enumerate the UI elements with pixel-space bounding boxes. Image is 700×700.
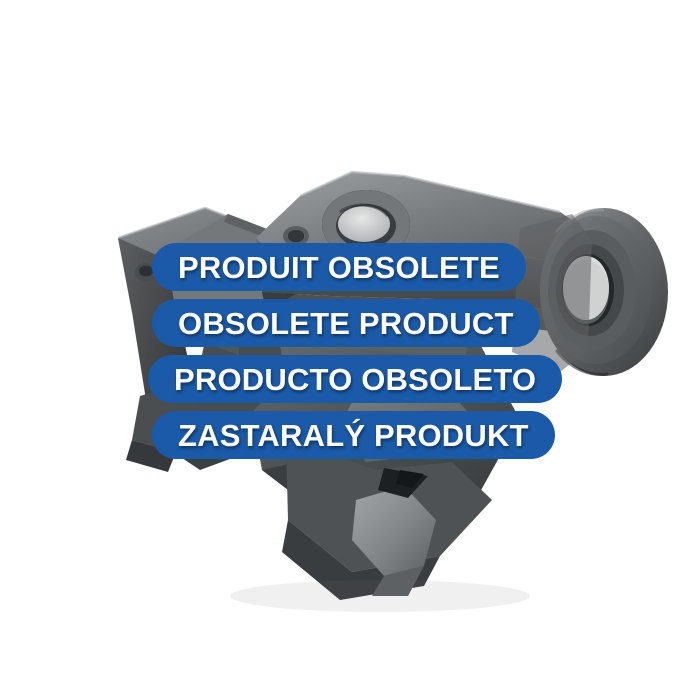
hub-collar xyxy=(512,214,592,372)
obsolete-badge-fr: PRODUIT OBSOLETE xyxy=(152,243,526,291)
obsolete-badge-es: PRODUCTO OBSOLETO xyxy=(148,355,562,403)
obsolete-badge-cs: ZASTARALÝ PRODUKT xyxy=(152,411,555,459)
product-page: PRODUIT OBSOLETE OBSOLETE PRODUCT PRODUC… xyxy=(0,0,700,700)
product-render xyxy=(0,0,700,700)
obsolete-badge-en: OBSOLETE PRODUCT xyxy=(152,299,540,347)
